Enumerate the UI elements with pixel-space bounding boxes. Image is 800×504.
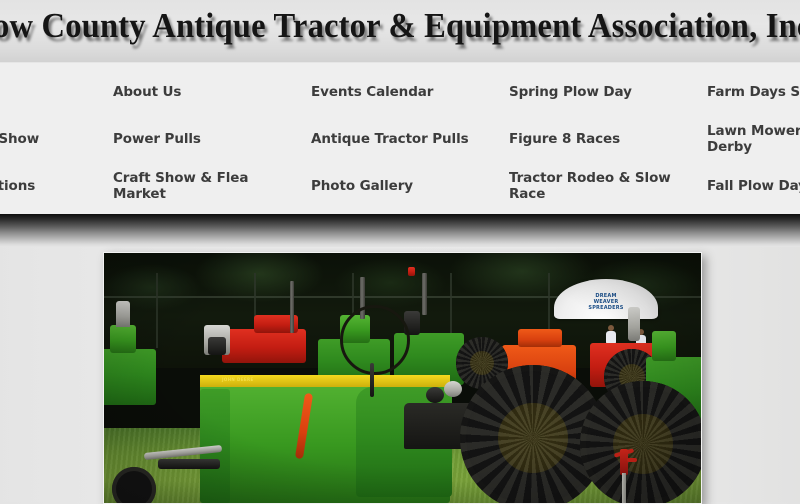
- nav-link-spring-plow-day[interactable]: Spring Plow Day: [509, 85, 632, 101]
- umbrella-text: DREAM WEAVER SPREADERS: [554, 293, 658, 312]
- nav-cell-farm-days-schedule[interactable]: Farm Days Schedule: [697, 69, 800, 116]
- photo-steering-wheel: [340, 305, 410, 375]
- nav-cell-antique-tractor-pulls[interactable]: Antique Tractor Pulls: [301, 116, 499, 163]
- photo-steering-column: [370, 363, 374, 397]
- photo-tractor-orange-hood: [518, 329, 562, 347]
- photo-front-wheel: [112, 467, 156, 503]
- nav-link-events-calendar[interactable]: Events Calendar: [311, 85, 433, 101]
- nav-cell-fall-plow-day[interactable]: Fall Plow Day: [697, 163, 800, 210]
- photo-hitch: [158, 459, 220, 469]
- nav-link-photo-gallery[interactable]: Photo Gallery: [311, 179, 413, 195]
- nav-cell-lawn-mower-demo-derby[interactable]: Lawn Mower Demo Derby: [697, 116, 800, 163]
- photo-exhaust-stack: [290, 281, 294, 333]
- page-wrapper: Morrow County Antique Tractor & Equipmen…: [0, 0, 800, 500]
- nav-cell-tractor-rodeo-slow-race[interactable]: Tractor Rodeo & Slow Race: [499, 163, 697, 210]
- photo-tractor-badge: JOHN DEERE: [222, 377, 254, 382]
- hero-photo: DREAM WEAVER SPREADERS: [103, 252, 702, 504]
- photo-light: [408, 267, 415, 276]
- photo-tractor-part: [110, 325, 136, 353]
- nav-cell-home[interactable]: HOME: [0, 69, 103, 116]
- nav-link-farm-days-schedule[interactable]: Farm Days Schedule: [707, 85, 800, 101]
- nav-link-antique-tractor-pulls[interactable]: Antique Tractor Pulls: [311, 132, 469, 148]
- nav-link-craft-show-flea-market[interactable]: Craft Show & Flea Market: [113, 171, 293, 203]
- nav-link-fall-plow-day[interactable]: Fall Plow Day: [707, 179, 800, 195]
- nav-cell-photo-gallery[interactable]: Photo Gallery: [301, 163, 499, 210]
- nav-cell-demonstrations[interactable]: Demonstrations: [0, 163, 103, 210]
- nav-grid: HOME About Us Events Calendar Spring Plo…: [0, 63, 800, 210]
- nav-link-demonstrations[interactable]: Demonstrations: [0, 179, 35, 195]
- nav-cell-power-pulls[interactable]: Power Pulls: [103, 116, 301, 163]
- photo-tractor-stack: [116, 301, 130, 327]
- nav-link-power-pulls[interactable]: Power Pulls: [113, 132, 201, 148]
- nav-cell-events-calendar[interactable]: Events Calendar: [301, 69, 499, 116]
- nav-link-farm-days-show[interactable]: Farm Days Show: [0, 132, 39, 148]
- photo-headlight: [426, 387, 444, 403]
- photo-tractor-grille-mesh: [208, 337, 226, 355]
- site-header: Morrow County Antique Tractor & Equipmen…: [0, 0, 800, 62]
- hero-photo-image: DREAM WEAVER SPREADERS: [104, 253, 701, 503]
- photo-fence-post: [156, 273, 158, 348]
- nav-link-lawn-mower-demo-derby[interactable]: Lawn Mower Demo Derby: [707, 124, 800, 156]
- photo-water-pump: [614, 449, 640, 503]
- photo-tractor-part: [652, 331, 676, 361]
- nav-link-about-us[interactable]: About Us: [113, 85, 181, 101]
- nav-link-figure-8-races[interactable]: Figure 8 Races: [509, 132, 620, 148]
- nav-cell-craft-show-flea-market[interactable]: Craft Show & Flea Market: [103, 163, 301, 210]
- photo-tractor-stack: [628, 307, 640, 341]
- photo-tractor-green: [104, 349, 156, 405]
- nav-cell-figure-8-races[interactable]: Figure 8 Races: [499, 116, 697, 163]
- content-area: DREAM WEAVER SPREADERS: [0, 247, 800, 502]
- main-navigation: HOME About Us Events Calendar Spring Plo…: [0, 62, 800, 214]
- nav-cell-farm-days-show[interactable]: Farm Days Show: [0, 116, 103, 163]
- page-title: Morrow County Antique Tractor & Equipmen…: [0, 6, 800, 46]
- photo-tractor-red: [222, 329, 306, 363]
- nav-cell-about-us[interactable]: About Us: [103, 69, 301, 116]
- nav-cell-spring-plow-day[interactable]: Spring Plow Day: [499, 69, 697, 116]
- photo-exhaust-stack: [422, 273, 427, 315]
- photo-mirror: [444, 381, 462, 397]
- nav-shadow-divider: [0, 214, 800, 247]
- nav-link-tractor-rodeo-slow-race[interactable]: Tractor Rodeo & Slow Race: [509, 171, 689, 203]
- photo-rear-wheel: [580, 381, 701, 503]
